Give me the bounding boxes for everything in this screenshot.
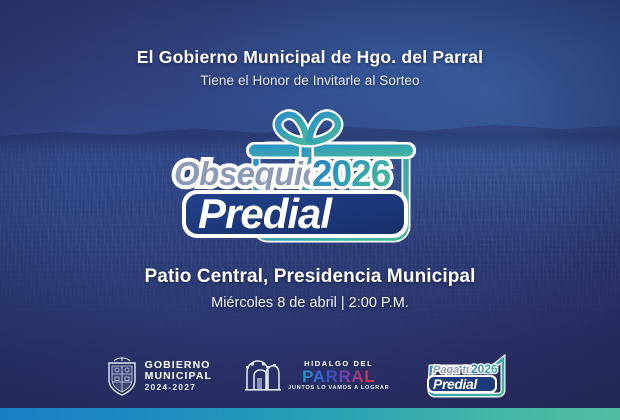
- gobierno-line3: 2024-2027: [145, 383, 212, 392]
- logo-word-obsequio: Obsequio: [174, 155, 323, 192]
- bottom-accent-bar: [0, 408, 620, 420]
- footer-logo-gobierno-municipal: GOBIERNO MUNICIPAL 2024-2027: [105, 355, 212, 397]
- page-subtitle: Tiene el Honor de Invitarle al Sorteo: [0, 73, 620, 88]
- footer-logo-paga-tu-predial: Paga tu 2026 Predial: [419, 354, 515, 398]
- paga-tu-predial-text: Predial: [433, 376, 478, 392]
- footer-logo-hidalgo-del-parral: HIDALGO DEL PARRAL JUNTOS LO VAMOS A LOG…: [242, 356, 389, 396]
- logo-artwork: Obsequio 2026 Predial: [160, 106, 460, 246]
- page-title: El Gobierno Municipal de Hgo. del Parral: [0, 47, 620, 68]
- poster-header: El Gobierno Municipal de Hgo. del Parral…: [0, 47, 620, 88]
- paga-tu-text: Paga tu: [433, 364, 473, 376]
- parral-line3: JUNTOS LO VAMOS A LOGRAR: [288, 386, 389, 392]
- venue-place: Patio Central, Presidencia Municipal: [0, 266, 620, 288]
- parral-line2: PARRAL: [288, 368, 389, 386]
- gobierno-line2: MUNICIPAL: [145, 371, 212, 382]
- parral-aqueduct-arches-icon: [242, 356, 282, 396]
- logo-word-predial: Predial: [198, 190, 333, 237]
- house-tag-icon: Paga tu 2026 Predial: [419, 354, 515, 398]
- venue-date-time: Miércoles 8 de abril | 2:00 P.M.: [0, 295, 620, 311]
- logo-year: 2026: [312, 153, 391, 194]
- footer-logo-strip: GOBIERNO MUNICIPAL 2024-2027: [0, 354, 620, 398]
- coat-of-arms-shield-icon: [105, 355, 139, 397]
- paga-tu-year: 2026: [471, 362, 498, 376]
- venue-block: Patio Central, Presidencia Municipal Mié…: [0, 266, 620, 311]
- obsequio-predial-logo: Obsequio 2026 Predial: [0, 106, 620, 246]
- event-poster: El Gobierno Municipal de Hgo. del Parral…: [0, 0, 620, 420]
